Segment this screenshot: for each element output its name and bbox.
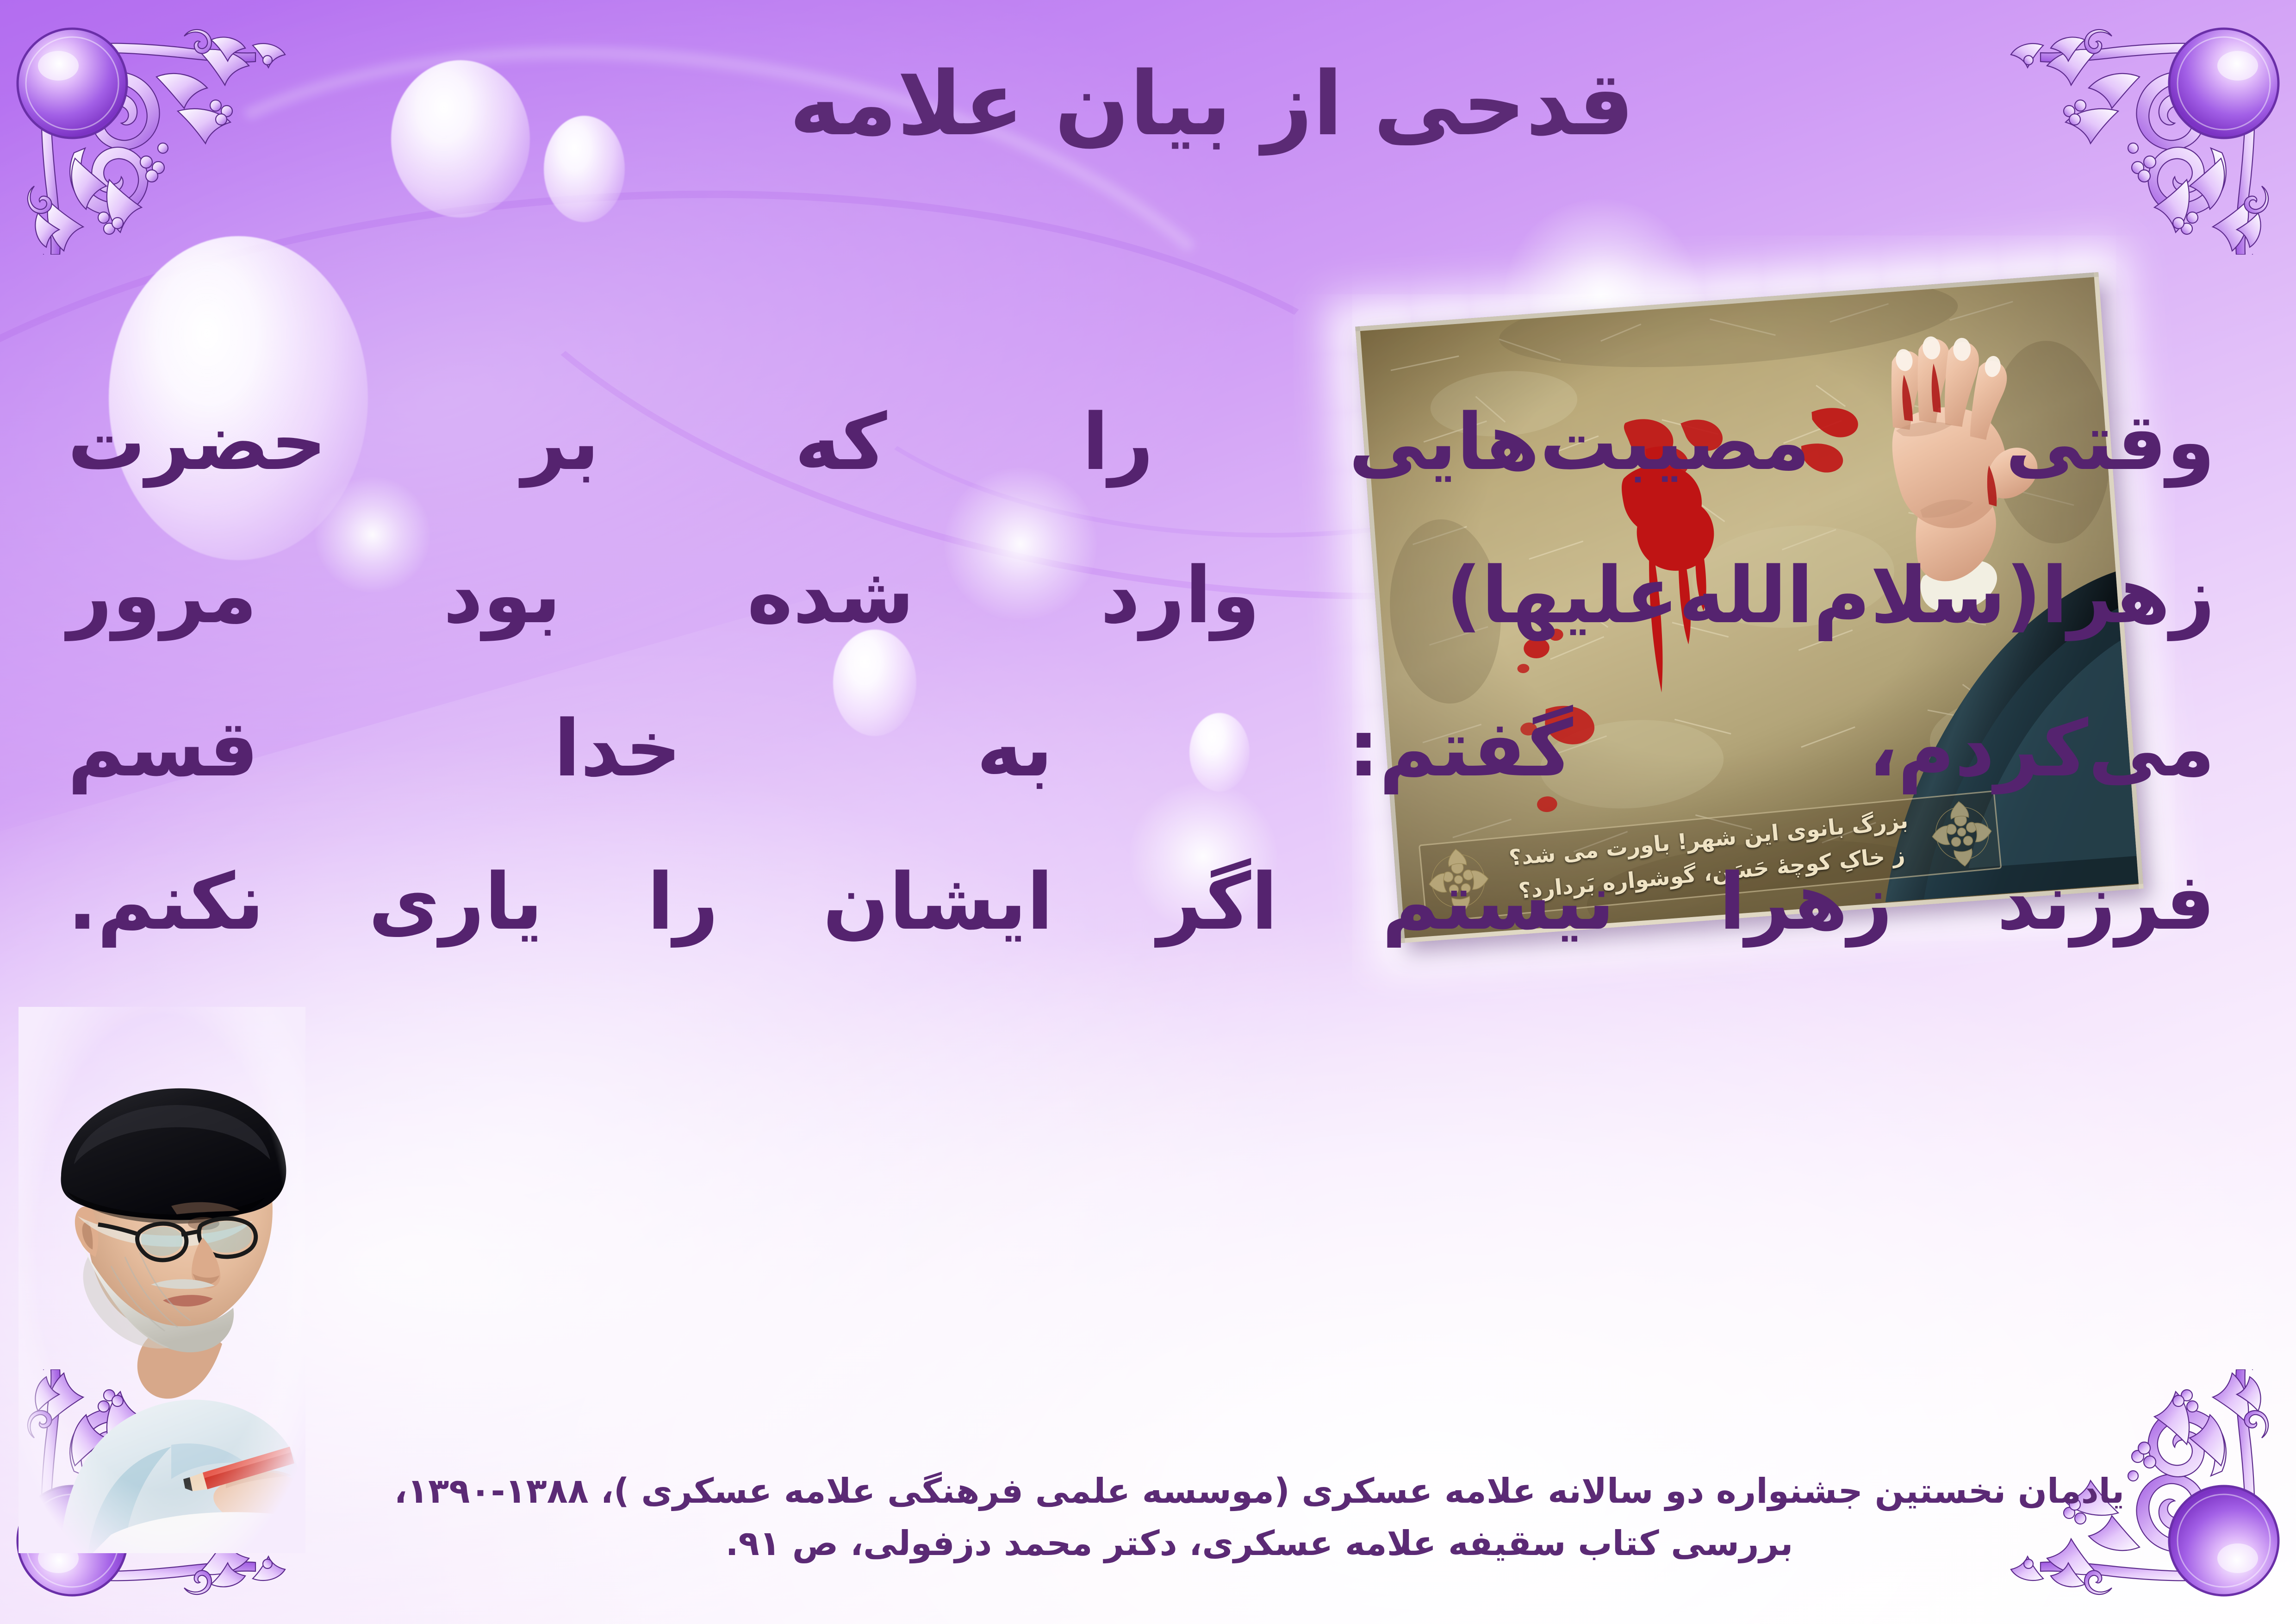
allameh-askari-portrait — [19, 1007, 305, 1553]
citation-line-2: بررسی کتاب سقیفه علامه عسکری، دکتر محمد … — [306, 1518, 2213, 1569]
decorative-bubble-3 — [544, 116, 625, 222]
body-line-3: می‌کردم، گفتم: به خدا قسم — [68, 672, 2215, 825]
source-citation: یادمان نخستین جشنواره دو سالانه علامه عس… — [306, 1465, 2213, 1569]
decorative-bubble-2 — [391, 60, 530, 218]
page-title: قدحی از بیان علامه — [871, 56, 1634, 152]
body-line-2: زهرا(سلام‌الله‌علیها) وارد شده بود مرور — [68, 519, 2215, 672]
corner-ornament-top-right — [1988, 0, 2296, 255]
poster-canvas: قدحی از بیان علامه — [0, 0, 2296, 1624]
citation-line-1: یادمان نخستین جشنواره دو سالانه علامه عس… — [306, 1465, 2213, 1517]
corner-ornament-top-left — [0, 0, 308, 255]
body-line-1: وقتی مصیبت‌هایی را که بر حضرت — [68, 366, 2215, 519]
hadith-body-text: وقتی مصیبت‌هایی را که بر حضرت زهرا(سلام‌… — [68, 366, 2215, 979]
body-line-4: فرزند زهرا نیستم اگر ایشان را یاری نکنم. — [68, 825, 2215, 979]
